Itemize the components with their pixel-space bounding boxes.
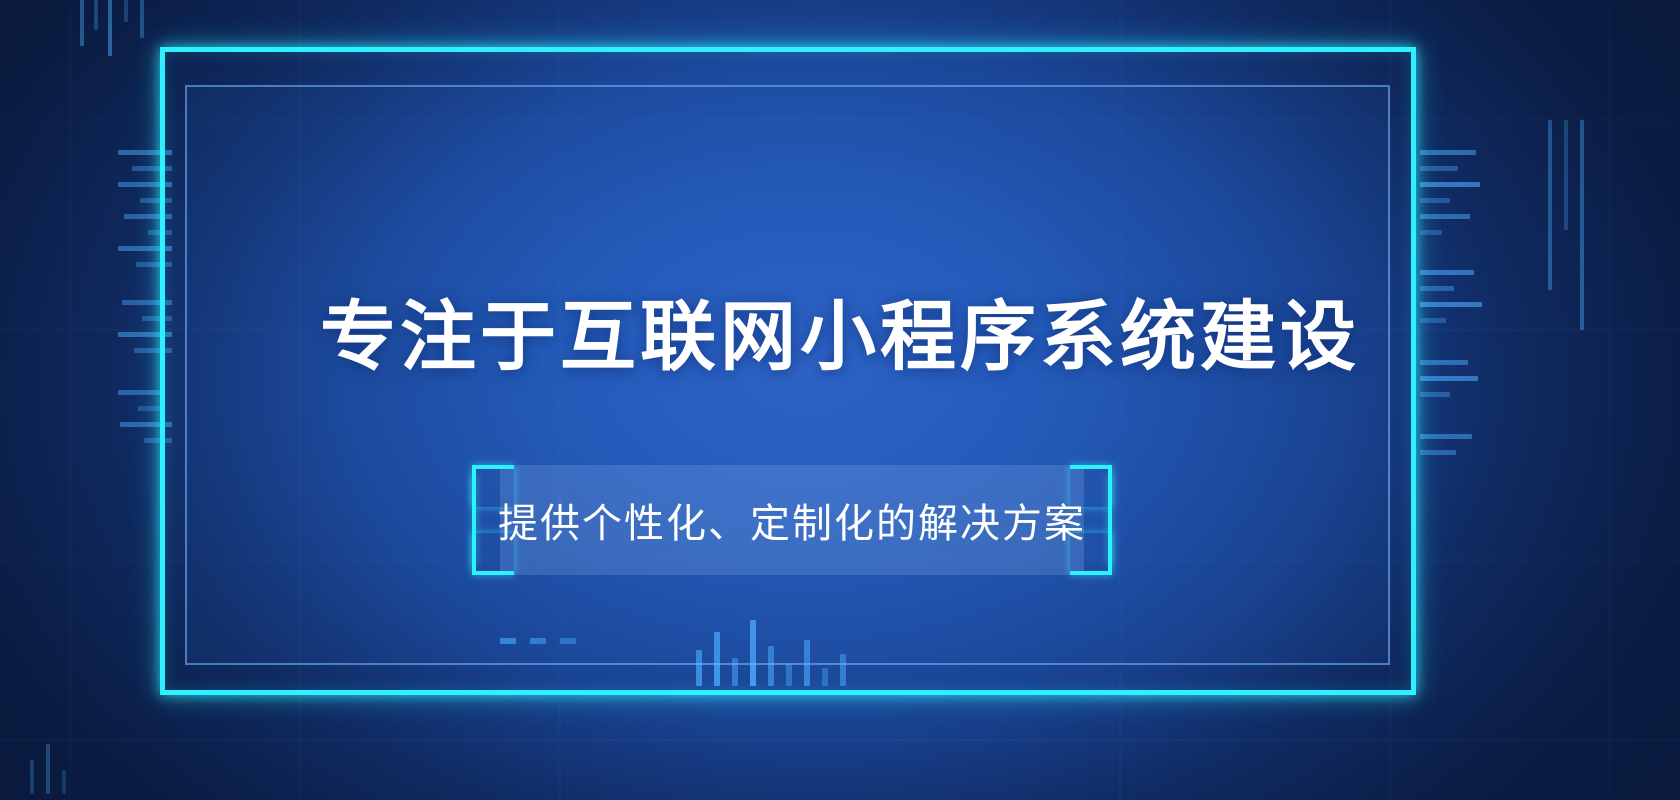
subtitle-block: 提供个性化、定制化的解决方案: [472, 465, 1112, 575]
hero-banner: 专注于互联网小程序系统建设 提供个性化、定制化的解决方案: [0, 0, 1680, 800]
page-title: 专注于互联网小程序系统建设: [0, 292, 1680, 382]
tech-bars-bottom-left: [30, 700, 150, 790]
subtitle-text: 提供个性化、定制化的解决方案: [472, 465, 1112, 575]
